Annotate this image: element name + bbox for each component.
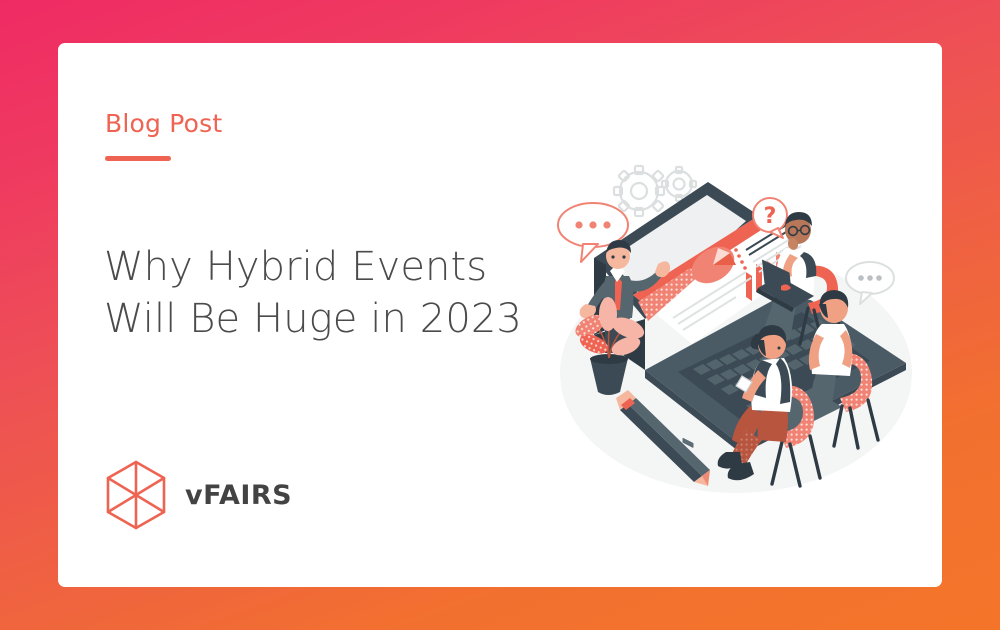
eyebrow-block: Blog Post	[105, 111, 222, 161]
hybrid-event-illustration: ?	[550, 158, 922, 498]
blog-post-card: Blog Post Why Hybrid Events Will Be Huge…	[58, 43, 942, 587]
page-title-line-1: Why Hybrid Events	[104, 241, 544, 293]
eyebrow-underline	[105, 156, 171, 161]
vfairs-hexagon-icon	[105, 460, 167, 530]
eyebrow-label: Blog Post	[105, 111, 222, 136]
brand-wordmark: vFAIRS	[185, 482, 292, 509]
poster-canvas: Blog Post Why Hybrid Events Will Be Huge…	[0, 0, 1000, 630]
page-title-line-2: Will Be Huge in 2023	[104, 293, 544, 345]
svg-text:?: ?	[764, 204, 777, 229]
brand-logo: vFAIRS	[105, 460, 292, 530]
page-title: Why Hybrid Events Will Be Huge in 2023	[104, 241, 544, 345]
